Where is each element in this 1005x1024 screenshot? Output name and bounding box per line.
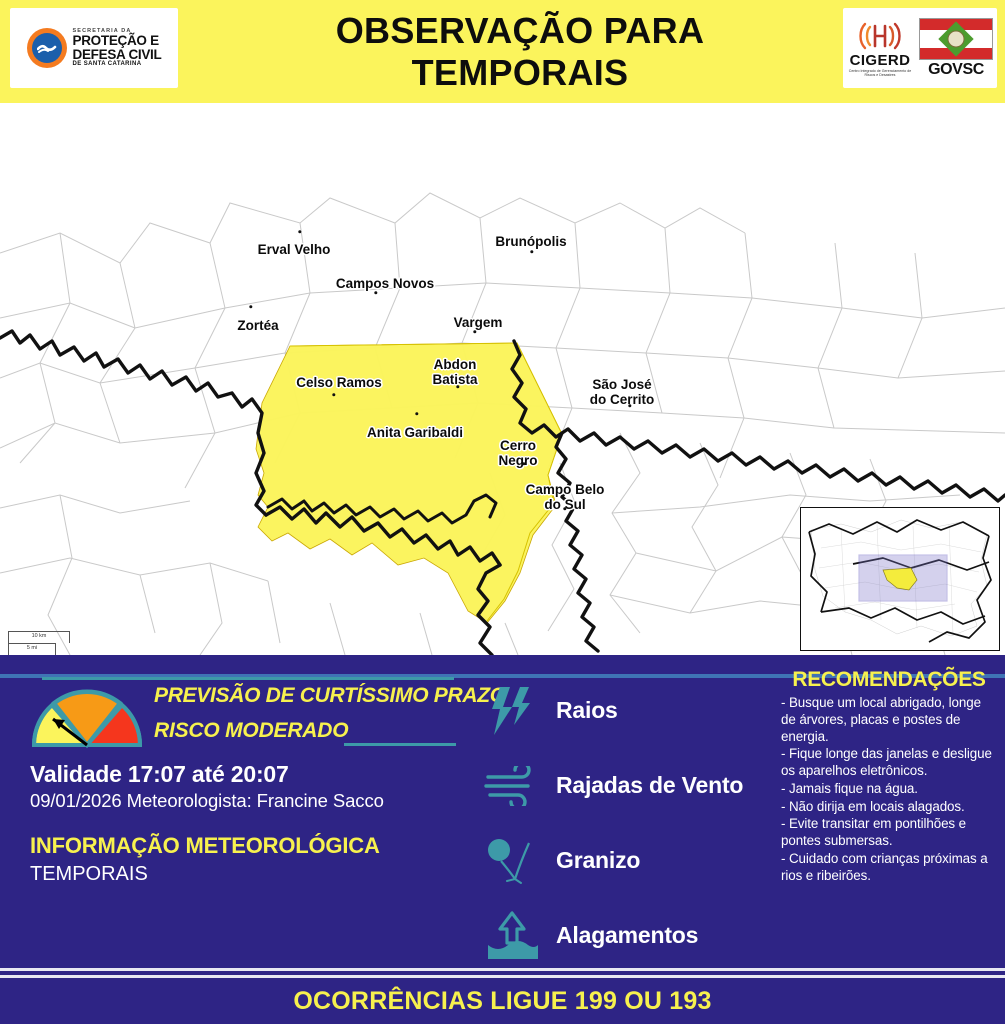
recommendation-item: - Jamais fique na água.	[781, 781, 997, 798]
recommendations-title: RECOMENDAÇÕES	[781, 669, 997, 690]
cigerd-logo: CIGERD Centro Integrado de Gerenciamento…	[847, 19, 913, 78]
city-label: Erval Velho	[258, 242, 331, 257]
meteo-info-value: TEMPORAIS	[30, 863, 148, 886]
santa-catarina-flag-icon	[919, 18, 993, 60]
inset-canvas	[801, 508, 997, 648]
forecast-heading: PREVISÃO DE CURTÍSSIMO PRAZO	[154, 685, 460, 706]
alert-map[interactable]: Erval VelhoBrunópolisCampos NovosZortéaV…	[0, 103, 1005, 655]
partner-logos: CIGERD Centro Integrado de Gerenciamento…	[843, 8, 997, 88]
page-header: SECRETARIA DA PROTEÇÃO E DEFESA CIVIL DE…	[0, 0, 1005, 103]
meteo-info-heading: INFORMAÇÃO METEOROLÓGICA	[30, 833, 380, 859]
cigerd-name: CIGERD	[850, 53, 911, 68]
defesa-civil-logo: SECRETARIA DA PROTEÇÃO E DEFESA CIVIL DE…	[10, 8, 178, 88]
inset-locator-map[interactable]	[800, 507, 1000, 651]
page-title-line-1: OBSERVAÇÃO PARA	[336, 10, 705, 52]
recommendation-item: - Cuidado com crianças próximas a rios e…	[781, 851, 997, 885]
govsc-prefix: GOV	[928, 61, 962, 78]
scale-mi: 5 mi	[9, 645, 55, 651]
city-label: Brunópolis	[495, 234, 566, 249]
wind-icon	[480, 758, 544, 814]
city-label: Vargem	[454, 315, 503, 330]
scale-km: 10 km	[9, 633, 69, 639]
page-title: OBSERVAÇÃO PARA TEMPORAIS	[200, 6, 840, 98]
city-label: Celso Ramos	[296, 375, 382, 390]
risk-titles: PREVISÃO DE CURTÍSSIMO PRAZO RISCO MODER…	[154, 685, 460, 741]
emergency-footer: OCORRÊNCIAS LIGUE 199 OU 193	[0, 978, 1005, 1024]
validity-text: Validade 17:07 até 20:07	[30, 761, 289, 788]
hazard-label: Alagamentos	[556, 922, 698, 949]
defesa-civil-emblem-icon	[27, 28, 67, 68]
city-label: Anita Garibaldi	[367, 425, 463, 440]
alert-page: SECRETARIA DA PROTEÇÃO E DEFESA CIVIL DE…	[0, 0, 1005, 1024]
hazard-item-vento: Rajadas de Vento	[480, 748, 780, 823]
risk-level: RISCO MODERADO	[154, 720, 460, 741]
logo-estado-line: DE SANTA CATARINA	[73, 61, 162, 67]
govsc-name: GOVSC	[928, 62, 984, 78]
page-title-line-2: TEMPORAIS	[412, 52, 629, 94]
footer-divider-top	[0, 968, 1005, 971]
recommendation-item: - Busque um local abrigado, longe de árv…	[781, 695, 997, 745]
recommendations-list: - Busque um local abrigado, longe de árv…	[781, 695, 997, 884]
meteorologist-text: 09/01/2026 Meteorologista: Francine Sacc…	[30, 790, 384, 812]
cigerd-wave-icon	[857, 19, 903, 53]
hazard-item-granizo: Granizo	[480, 823, 780, 898]
cigerd-subtitle: Centro Integrado de Gerenciamento de Ris…	[847, 69, 913, 78]
hail-icon	[480, 833, 544, 889]
logo-defesa-line: DEFESA CIVIL	[73, 48, 162, 62]
recommendation-item: - Evite transitar em pontilhões e pontes…	[781, 816, 997, 850]
lightning-icon	[480, 683, 544, 739]
risk-gauge-icon	[28, 687, 146, 749]
city-label: Abdon Batista	[432, 357, 477, 387]
recommendation-item: - Não dirija em locais alagados.	[781, 799, 997, 816]
risk-top-rule	[42, 677, 454, 680]
hazard-item-alagamentos: Alagamentos	[480, 898, 780, 973]
flood-icon	[480, 908, 544, 964]
govsc-logo: GOVSC	[919, 18, 993, 78]
recommendations-block: RECOMENDAÇÕES - Busque um local abrigado…	[781, 669, 997, 885]
city-label: Campos Novos	[336, 276, 434, 291]
hazard-label: Raios	[556, 697, 618, 724]
city-label: Cerro Negro	[498, 438, 537, 468]
recommendation-item: - Fique longe das janelas e desligue os …	[781, 746, 997, 780]
info-panel: PREVISÃO DE CURTÍSSIMO PRAZO RISCO MODER…	[0, 655, 1005, 1024]
logo-protecao-line: PROTEÇÃO E	[73, 34, 162, 48]
scale-bar: 10 km 5 mi	[8, 631, 70, 655]
govsc-suffix: SC	[962, 61, 983, 78]
hazard-item-raios: Raios	[480, 673, 780, 748]
hazard-label: Rajadas de Vento	[556, 772, 743, 799]
hazard-label: Granizo	[556, 847, 640, 874]
risk-level-rule	[344, 743, 456, 746]
hazard-list: Raios Rajadas de Vento	[480, 673, 780, 973]
city-label: São José do Cerrito	[590, 377, 655, 407]
city-label: Zortéa	[237, 318, 278, 333]
